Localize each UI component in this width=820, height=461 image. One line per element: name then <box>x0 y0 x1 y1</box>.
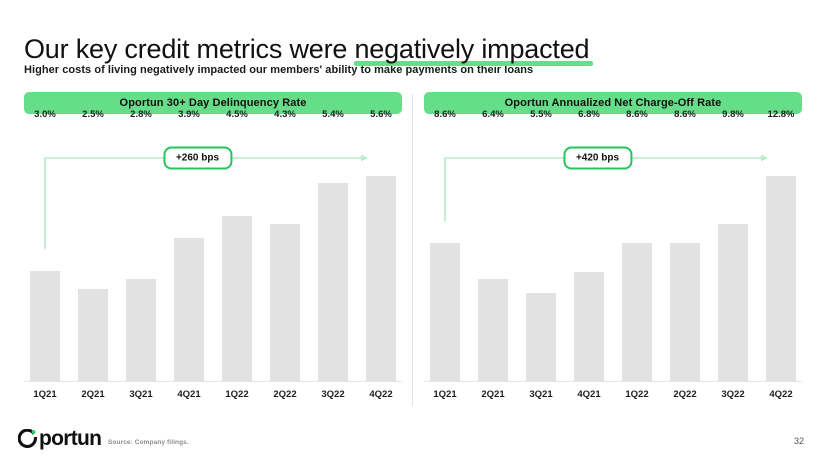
callout-delinquency: +260 bps <box>163 147 232 170</box>
bar-value-label: 9.8% <box>722 109 744 120</box>
bar: 8.6% <box>430 243 460 381</box>
bar-value-label: 8.6% <box>434 109 456 120</box>
bar: 6.4% <box>478 279 508 382</box>
page-title-lead: Our key credit metrics were <box>24 34 354 64</box>
x-axis-tick: 4Q21 <box>174 389 204 400</box>
bar-item: 9.8% <box>718 124 748 381</box>
bar-item: 12.8% <box>766 124 796 381</box>
bar: 4.5% <box>222 216 252 381</box>
bar-value-label: 6.4% <box>482 109 504 120</box>
bar: 4.3% <box>270 224 300 381</box>
chart-baseline <box>424 381 802 382</box>
bar-item: 8.6% <box>430 124 460 381</box>
page-title-highlight: negatively impacted <box>354 34 589 65</box>
x-axis-tick: 3Q22 <box>718 389 748 400</box>
bar-value-label: 12.8% <box>768 109 795 120</box>
bar-chart-charge-off: 8.6%6.4%5.5%6.8%8.6%8.6%9.8%12.8% 1Q212Q… <box>424 124 802 404</box>
bar: 6.8% <box>574 272 604 381</box>
bar-value-label: 6.8% <box>578 109 600 120</box>
x-axis-tick: 2Q21 <box>478 389 508 400</box>
bar-value-label: 4.5% <box>226 109 248 120</box>
bar-item: 4.3% <box>270 124 300 381</box>
x-axis-tick: 1Q21 <box>30 389 60 400</box>
bar: 9.8% <box>718 224 748 381</box>
bar-value-label: 8.6% <box>626 109 648 120</box>
oportun-logo: portun <box>18 429 101 449</box>
x-axis-tick: 1Q22 <box>622 389 652 400</box>
x-axis-charge-off: 1Q212Q213Q214Q211Q222Q223Q224Q22 <box>430 384 796 404</box>
x-axis-tick: 1Q22 <box>222 389 252 400</box>
bar: 2.8% <box>126 279 156 382</box>
bar-value-label: 5.6% <box>370 109 392 120</box>
bar: 8.6% <box>622 243 652 381</box>
bar-item: 8.6% <box>670 124 700 381</box>
bar-value-label: 5.5% <box>530 109 552 120</box>
x-axis-tick: 1Q21 <box>430 389 460 400</box>
bar-value-label: 2.8% <box>130 109 152 120</box>
x-axis-tick: 4Q22 <box>766 389 796 400</box>
x-axis-tick: 2Q22 <box>670 389 700 400</box>
panel-divider <box>412 94 413 406</box>
bar-item: 5.6% <box>366 124 396 381</box>
x-axis-tick: 4Q22 <box>366 389 396 400</box>
source-note: Source: Company filings. <box>108 439 189 446</box>
page-number: 32 <box>794 436 804 446</box>
x-axis-tick: 3Q21 <box>126 389 156 400</box>
bar-item: 5.4% <box>318 124 348 381</box>
bar-item: 3.0% <box>30 124 60 381</box>
bar: 2.5% <box>78 289 108 381</box>
x-axis-tick: 3Q22 <box>318 389 348 400</box>
chart-banner-charge-off: Oportun Annualized Net Charge-Off Rate <box>424 92 802 114</box>
bar-item: 2.5% <box>78 124 108 381</box>
page-title: Our key credit metrics were negatively i… <box>24 34 589 65</box>
chart-panel-charge-off: Oportun Annualized Net Charge-Off Rate 8… <box>424 92 802 404</box>
bar-chart-delinquency: 3.0%2.5%2.8%3.9%4.5%4.3%5.4%5.6% 1Q212Q2… <box>24 124 402 404</box>
bar: 5.4% <box>318 183 348 381</box>
slide: Our key credit metrics were negatively i… <box>0 0 820 461</box>
bar-value-label: 4.3% <box>274 109 296 120</box>
chart-panel-delinquency: Oportun 30+ Day Delinquency Rate 3.0%2.5… <box>24 92 402 404</box>
chart-banner-delinquency: Oportun 30+ Day Delinquency Rate <box>24 92 402 114</box>
x-axis-tick: 2Q22 <box>270 389 300 400</box>
bar: 5.5% <box>526 293 556 381</box>
oportun-wordmark: portun <box>39 429 101 449</box>
x-axis-tick: 3Q21 <box>526 389 556 400</box>
bar: 8.6% <box>670 243 700 381</box>
bar-item: 5.5% <box>526 124 556 381</box>
bar: 12.8% <box>766 176 796 381</box>
bar-item: 2.8% <box>126 124 156 381</box>
chart-baseline <box>24 381 402 382</box>
x-axis-delinquency: 1Q212Q213Q214Q211Q222Q223Q224Q22 <box>30 384 396 404</box>
bar: 3.9% <box>174 238 204 381</box>
callout-charge-off: +420 bps <box>563 147 632 170</box>
bar-value-label: 8.6% <box>674 109 696 120</box>
bar-value-label: 5.4% <box>322 109 344 120</box>
x-axis-tick: 2Q21 <box>78 389 108 400</box>
bar-value-label: 2.5% <box>82 109 104 120</box>
footer: portun Source: Company filings. 32 <box>0 417 820 461</box>
bar-value-label: 3.0% <box>34 109 56 120</box>
bar: 3.0% <box>30 271 60 381</box>
bar-value-label: 3.9% <box>178 109 200 120</box>
oportun-o-icon <box>18 429 38 449</box>
bar-item: 6.4% <box>478 124 508 381</box>
x-axis-tick: 4Q21 <box>574 389 604 400</box>
bar: 5.6% <box>366 176 396 381</box>
